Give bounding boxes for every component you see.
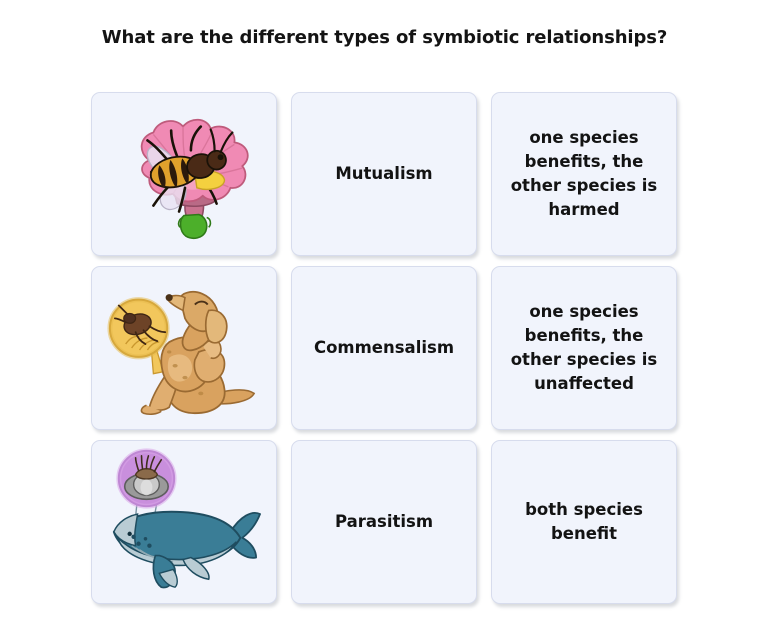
matching-grid: Mutualism one species benefits, the othe…	[91, 92, 677, 604]
image-card-whale-with-barnacle[interactable]	[91, 440, 277, 604]
dog-with-flea-illustration	[92, 267, 276, 429]
term-card-mutualism[interactable]: Mutualism	[291, 92, 477, 256]
term-card-commensalism[interactable]: Commensalism	[291, 266, 477, 430]
definition-card-both-benefit[interactable]: both species benefit	[491, 440, 677, 604]
image-card-dog-with-flea[interactable]	[91, 266, 277, 430]
term-label: Parasitism	[325, 510, 443, 534]
term-label: Commensalism	[304, 336, 464, 360]
definition-card-unaffected[interactable]: one species benefits, the other species …	[491, 266, 677, 430]
whale-with-barnacle-illustration	[92, 441, 276, 603]
page-title: What are the different types of symbioti…	[0, 27, 769, 48]
bee-on-flower-illustration	[92, 93, 276, 255]
term-card-parasitism[interactable]: Parasitism	[291, 440, 477, 604]
definition-label: both species benefit	[492, 498, 676, 546]
image-card-bee-on-flower[interactable]	[91, 92, 277, 256]
definition-label: one species benefits, the other species …	[492, 300, 676, 396]
definition-label: one species benefits, the other species …	[492, 126, 676, 222]
definition-card-harmed[interactable]: one species benefits, the other species …	[491, 92, 677, 256]
term-label: Mutualism	[325, 162, 442, 186]
